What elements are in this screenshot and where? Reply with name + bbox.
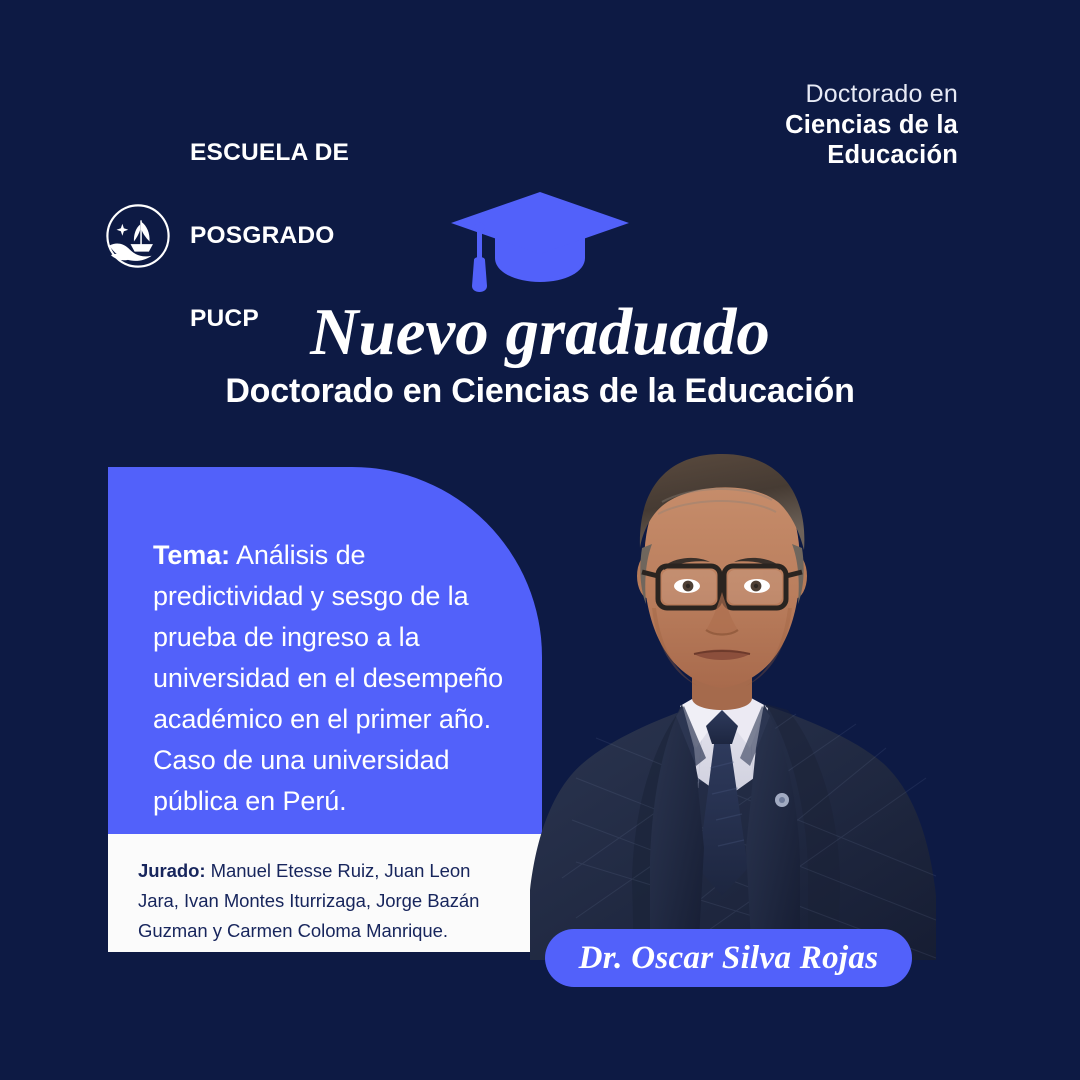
page-subtitle: Doctorado en Ciencias de la Educación: [0, 372, 1080, 411]
page-title: Nuevo graduado: [0, 294, 1080, 371]
program-name-line-2: Educación: [785, 140, 958, 170]
brand-line-1: ESCUELA DE: [190, 139, 349, 167]
program-label: Doctorado en Ciencias de la Educación: [785, 80, 958, 170]
graduation-announcement-poster: ESCUELA DE POSGRADO PUCP Doctorado en Ci…: [0, 0, 1080, 1080]
topic-text: Análisis de predictividad y sesgo de la …: [153, 540, 503, 816]
program-name-line-1: Ciencias de la: [785, 110, 958, 140]
jury-label: Jurado:: [138, 860, 206, 881]
jury-text-block: Jurado: Manuel Etesse Ruiz, Juan Leon Ja…: [138, 856, 508, 946]
program-name: Ciencias de la Educación: [785, 110, 958, 170]
graduate-portrait-photo: [466, 448, 986, 960]
topic-label: Tema:: [153, 540, 230, 570]
program-prefix: Doctorado en: [785, 80, 958, 110]
graduation-cap-icon: [0, 186, 1080, 298]
graduate-name-badge: Dr. Oscar Silva Rojas: [545, 929, 912, 987]
topic-text-block: Tema: Análisis de predictividad y sesgo …: [153, 535, 515, 822]
